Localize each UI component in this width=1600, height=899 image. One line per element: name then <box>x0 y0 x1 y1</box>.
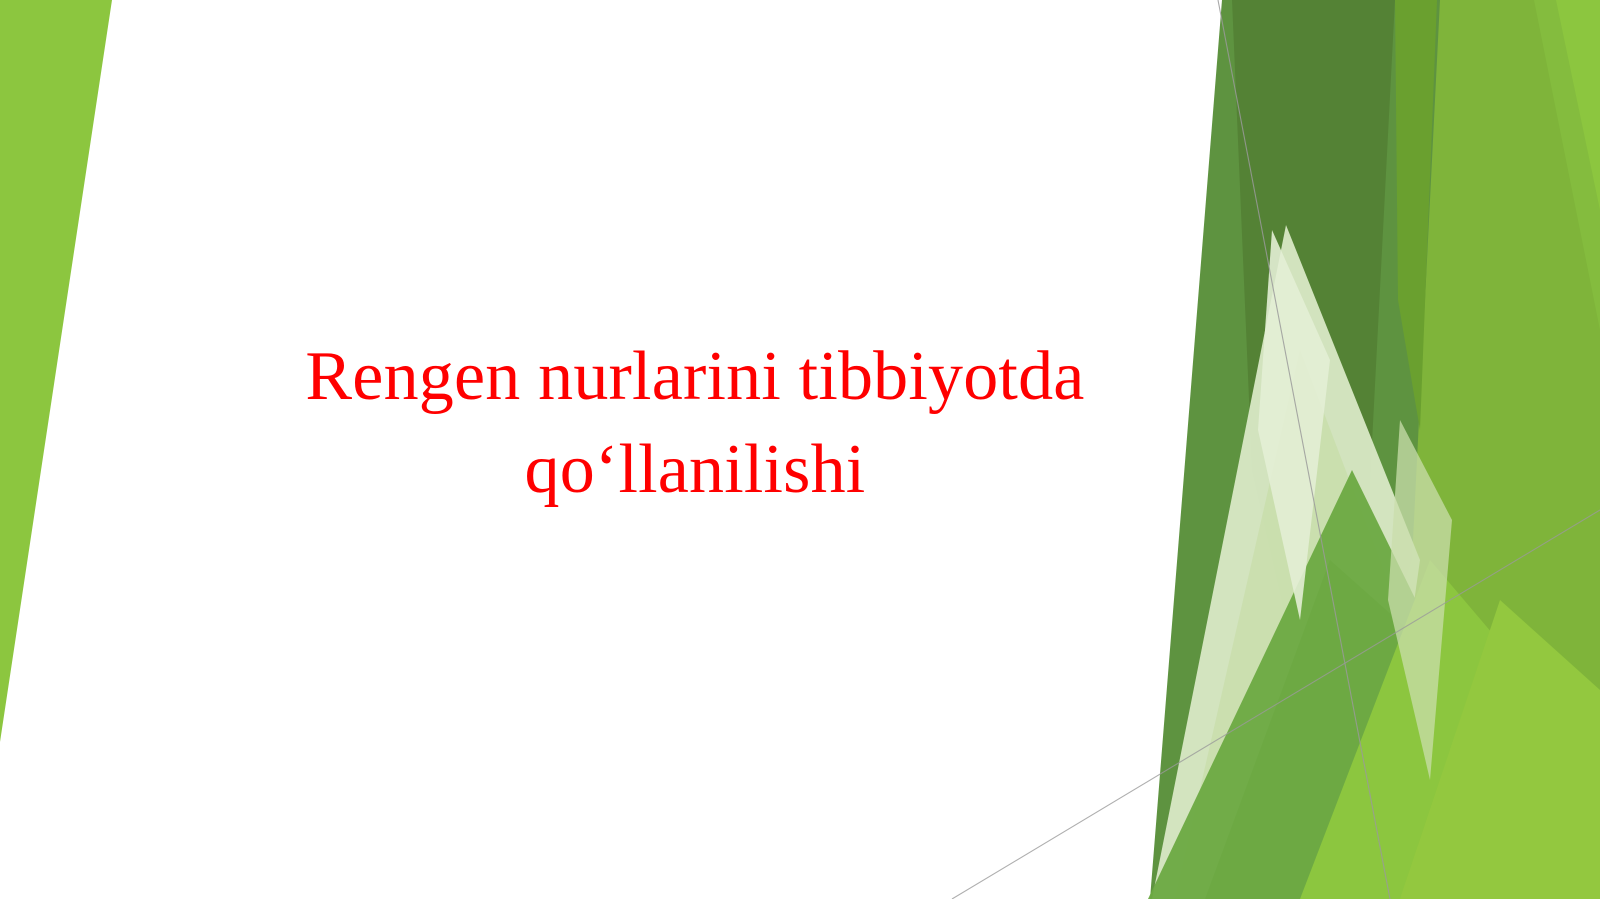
title-placeholder[interactable]: Rengen nurlarini tibbiyotda qo‘llanilish… <box>170 330 1220 516</box>
presentation-slide: Rengen nurlarini tibbiyotda qo‘llanilish… <box>0 0 1600 899</box>
slide-title[interactable]: Rengen nurlarini tibbiyotda qo‘llanilish… <box>170 330 1220 516</box>
